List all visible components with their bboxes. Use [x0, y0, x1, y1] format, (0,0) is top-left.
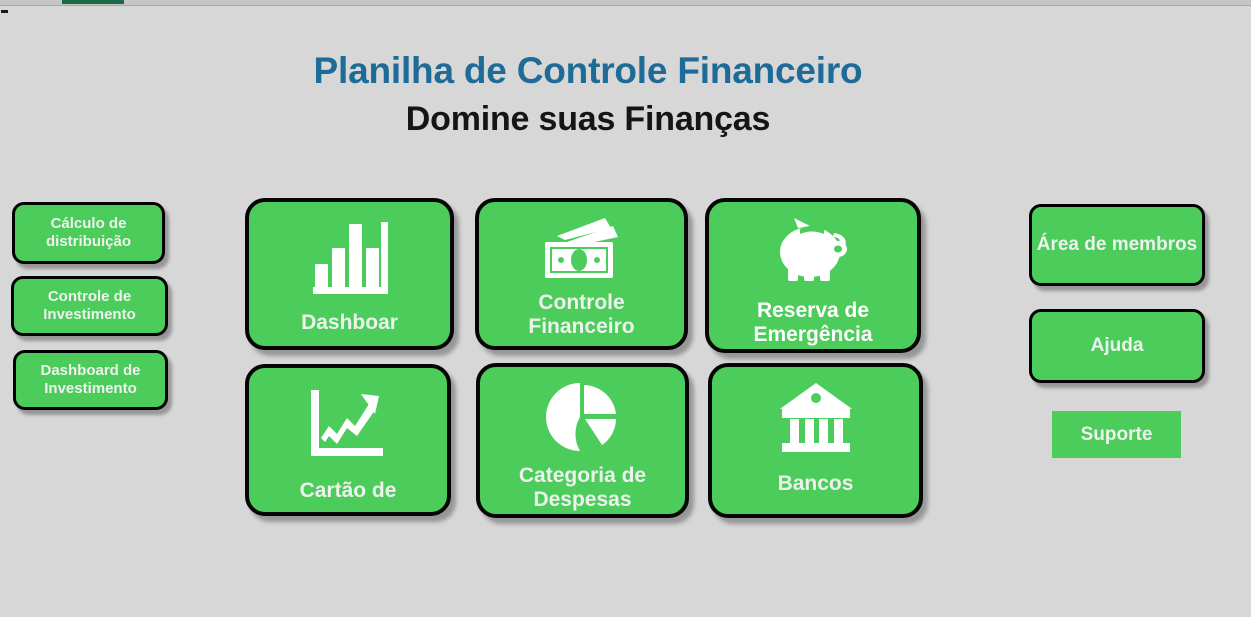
top-chrome-strip	[0, 0, 1251, 6]
sidebar-item-suporte[interactable]: Suporte	[1052, 411, 1181, 458]
line-chart-up-arrow-icon	[309, 388, 387, 465]
tile-label: Cartão de	[294, 479, 403, 503]
header-block: Planilha de Controle Financeiro Domine s…	[0, 50, 1176, 139]
tile-reserva-de-emergencia[interactable]: Reserva de Emergência	[705, 198, 921, 353]
tile-bancos[interactable]: Bancos	[708, 363, 923, 518]
money-banknotes-icon	[539, 216, 625, 285]
tile-label: Dashboar	[295, 311, 404, 335]
tile-categoria-de-despesas[interactable]: Categoria de Despesas	[476, 363, 689, 518]
active-tab-indicator[interactable]	[62, 0, 124, 4]
bar-chart-icon	[311, 220, 389, 299]
sidebar-item-label: Área de membros	[1037, 234, 1198, 256]
sidebar-item-label: Controle de Investimento	[14, 288, 165, 323]
tile-label: Categoria de Despesas	[480, 464, 685, 513]
sidebar-item-controle-investimento[interactable]: Controle de Investimento	[11, 276, 168, 336]
sidebar-item-label: Cálculo de distribuição	[15, 215, 162, 250]
piggy-bank-icon	[772, 216, 854, 293]
sidebar-item-label: Suporte	[1081, 424, 1153, 446]
bank-building-icon	[776, 381, 856, 460]
tile-cartao-de[interactable]: Cartão de	[245, 364, 451, 516]
sidebar-item-area-de-membros[interactable]: Área de membros	[1029, 204, 1205, 286]
page-subtitle: Domine suas Finanças	[0, 99, 1176, 140]
pie-chart-icon	[546, 381, 620, 458]
sidebar-item-calculo-distribuicao[interactable]: Cálculo de distribuição	[12, 202, 165, 264]
corner-dash-mark	[1, 10, 8, 13]
tile-label: Reserva de Emergência	[709, 299, 917, 348]
tile-label: Controle Financeiro	[479, 291, 684, 340]
sidebar-item-label: Ajuda	[1091, 335, 1144, 357]
sidebar-item-ajuda[interactable]: Ajuda	[1029, 309, 1205, 383]
sidebar-item-dashboard-investimento[interactable]: Dashboard de Investimento	[13, 350, 168, 410]
sidebar-item-label: Dashboard de Investimento	[16, 362, 165, 397]
page-title: Planilha de Controle Financeiro	[0, 50, 1176, 93]
tile-label: Bancos	[772, 472, 860, 496]
tile-dashboard[interactable]: Dashboar	[245, 198, 454, 350]
tile-controle-financeiro[interactable]: Controle Financeiro	[475, 198, 688, 350]
